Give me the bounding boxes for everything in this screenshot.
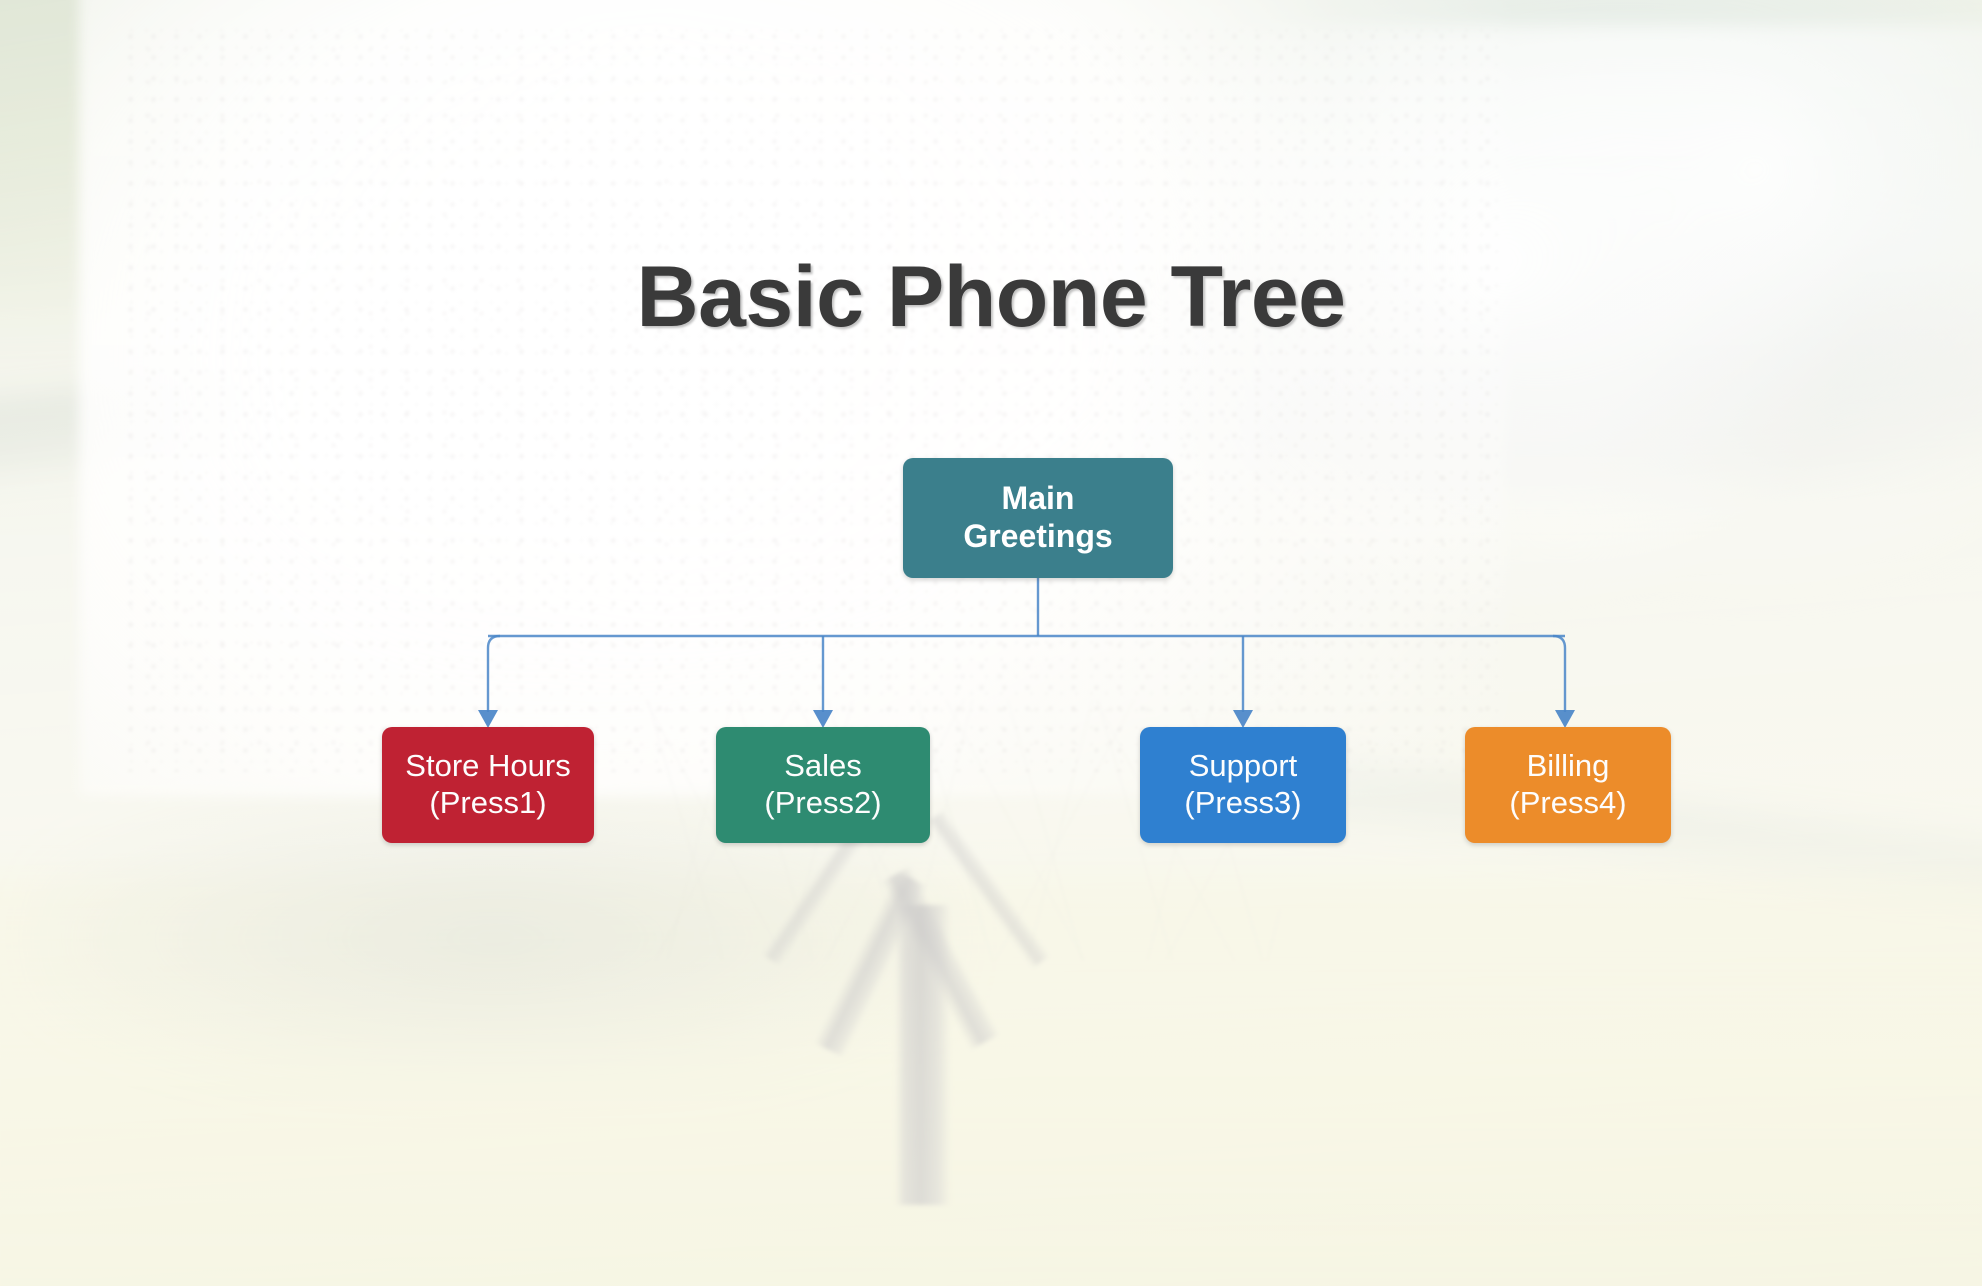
- node-store-hours[interactable]: Store Hours (Press1): [382, 727, 594, 843]
- node-store-hours-label: Store Hours (Press1): [405, 748, 570, 821]
- node-support-line2: (Press3): [1184, 785, 1301, 822]
- node-root-line2: Greetings: [963, 518, 1112, 556]
- node-billing[interactable]: Billing (Press4): [1465, 727, 1671, 843]
- node-root-line1: Main: [963, 480, 1112, 518]
- node-billing-label: Billing (Press4): [1509, 748, 1626, 821]
- node-sales-line1: Sales: [764, 748, 881, 785]
- node-store-hours-line2: (Press1): [405, 785, 570, 822]
- node-sales[interactable]: Sales (Press2): [716, 727, 930, 843]
- node-root-label: Main Greetings: [963, 480, 1112, 556]
- node-support-label: Support (Press3): [1184, 748, 1301, 821]
- node-support[interactable]: Support (Press3): [1140, 727, 1346, 843]
- node-sales-label: Sales (Press2): [764, 748, 881, 821]
- node-sales-line2: (Press2): [764, 785, 881, 822]
- node-support-line1: Support: [1184, 748, 1301, 785]
- node-billing-line2: (Press4): [1509, 785, 1626, 822]
- node-main-greetings[interactable]: Main Greetings: [903, 458, 1173, 578]
- node-store-hours-line1: Store Hours: [405, 748, 570, 785]
- background-photo: [0, 0, 1982, 1286]
- page-title: Basic Phone Tree: [0, 248, 1982, 347]
- slide-canvas: Basic Phone Tree Main Greetings: [0, 0, 1982, 1286]
- background-white-gradient: [0, 0, 1982, 1286]
- node-billing-line1: Billing: [1509, 748, 1626, 785]
